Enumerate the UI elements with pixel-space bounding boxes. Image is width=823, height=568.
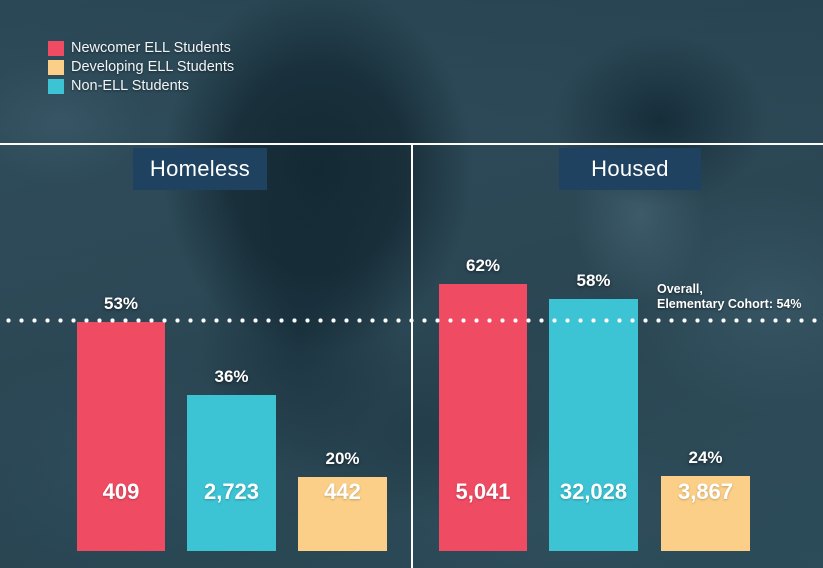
bar-count-label: 32,028 [549, 479, 638, 505]
bar-percent-label: 20% [284, 449, 401, 469]
group-label-homeless-text: Homeless [150, 156, 250, 182]
chart-legend: Newcomer ELL StudentsDeveloping ELL Stud… [48, 40, 234, 97]
bar-percent-label: 24% [647, 448, 764, 468]
reference-line-annotation: Overall, Elementary Cohort: 54% [657, 282, 801, 312]
group-label-homeless: Homeless [133, 148, 267, 190]
bar-homeless-2[interactable]: 20%442 [298, 477, 387, 551]
group-divider-rule [411, 145, 413, 568]
chart-canvas: Newcomer ELL StudentsDeveloping ELL Stud… [0, 0, 823, 568]
legend-swatch-newcomer [48, 41, 64, 56]
legend-item-label: Non-ELL Students [71, 79, 189, 94]
legend-item-0[interactable]: Newcomer ELL Students [48, 40, 234, 57]
legend-item-label: Developing ELL Students [71, 60, 234, 75]
bar-homeless-1[interactable]: 36%2,723 [187, 395, 276, 551]
reference-annotation-line1: Overall, [657, 282, 801, 297]
bar-count-label: 3,867 [661, 479, 750, 505]
bar-count-label: 409 [77, 479, 165, 505]
legend-item-label: Newcomer ELL Students [71, 41, 231, 56]
bar-housed-5[interactable]: 24%3,867 [661, 476, 750, 551]
group-label-housed: Housed [559, 148, 701, 190]
legend-swatch-developing [48, 60, 64, 75]
bar-count-label: 442 [298, 479, 387, 505]
reference-annotation-line2: Elementary Cohort: 54% [657, 297, 801, 312]
legend-item-1[interactable]: Developing ELL Students [48, 59, 234, 76]
legend-swatch-nonell [48, 79, 64, 94]
bar-housed-4[interactable]: 58%32,028 [549, 299, 638, 551]
bar-percent-label: 62% [425, 256, 541, 276]
legend-item-2[interactable]: Non-ELL Students [48, 78, 234, 95]
bar-percent-label: 36% [173, 367, 290, 387]
bar-count-label: 5,041 [439, 479, 527, 505]
bar-percent-label: 58% [535, 271, 652, 291]
group-label-housed-text: Housed [591, 156, 669, 182]
bar-count-label: 2,723 [187, 479, 276, 505]
bar-homeless-0[interactable]: 53%409 [77, 322, 165, 551]
bar-percent-label: 53% [63, 294, 179, 314]
bar-housed-3[interactable]: 62%5,041 [439, 284, 527, 551]
reference-line [0, 318, 823, 323]
